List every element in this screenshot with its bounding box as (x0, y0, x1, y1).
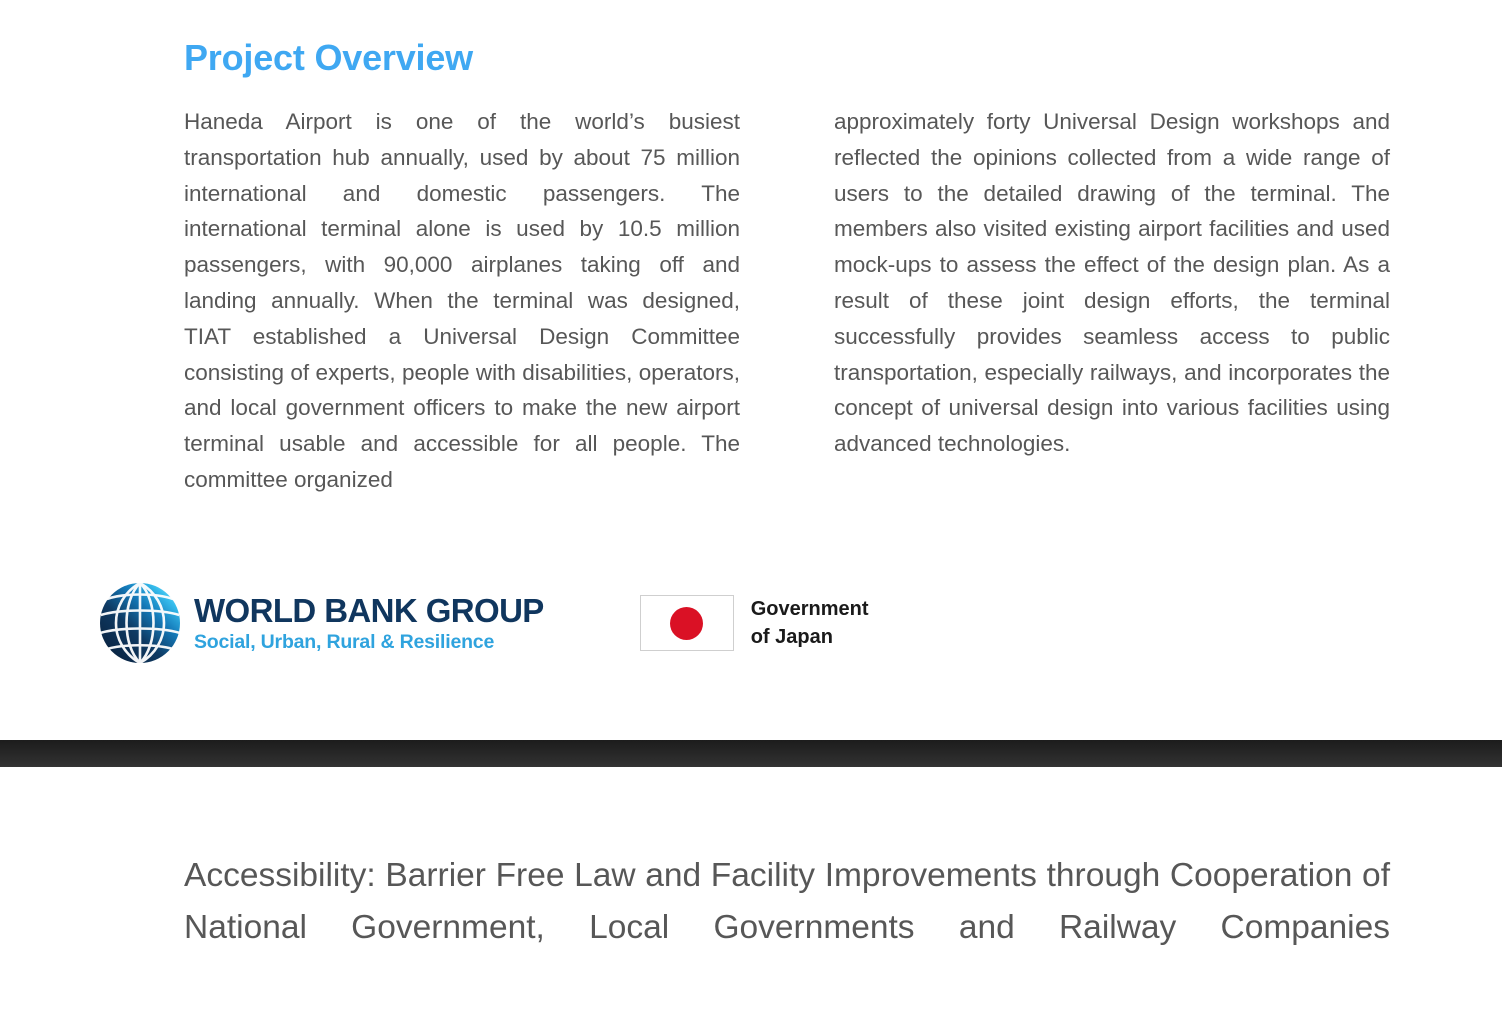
section-divider-band (0, 740, 1502, 767)
japan-flag-icon (640, 595, 734, 651)
government-of-japan-wordmark: Government of Japan (751, 595, 869, 651)
government-of-japan-line2: of Japan (751, 626, 833, 648)
globe-icon (96, 580, 184, 666)
overview-right-column: approximately forty Universal Design wor… (834, 104, 1390, 498)
world-bank-name: WORLD BANK GROUP (194, 593, 544, 629)
government-of-japan-line1: Government (751, 598, 869, 620)
bottom-section-heading: Accessibility: Barrier Free Law and Faci… (184, 850, 1390, 1006)
overview-columns: Haneda Airport is one of the world’s bus… (184, 104, 1390, 498)
government-of-japan-logo: Government of Japan (640, 595, 869, 651)
world-bank-tagline: Social, Urban, Rural & Resilience (194, 631, 544, 654)
overview-left-column: Haneda Airport is one of the world’s bus… (184, 104, 740, 498)
world-bank-wordmark: WORLD BANK GROUP Social, Urban, Rural & … (194, 593, 544, 654)
japan-flag-disc (670, 607, 703, 640)
page-title: Project Overview (184, 36, 473, 80)
world-bank-group-logo: WORLD BANK GROUP Social, Urban, Rural & … (96, 580, 544, 666)
overview-paragraph-right: approximately forty Universal Design wor… (834, 104, 1390, 462)
logo-strip: WORLD BANK GROUP Social, Urban, Rural & … (96, 580, 869, 666)
overview-paragraph-left: Haneda Airport is one of the world’s bus… (184, 104, 740, 498)
